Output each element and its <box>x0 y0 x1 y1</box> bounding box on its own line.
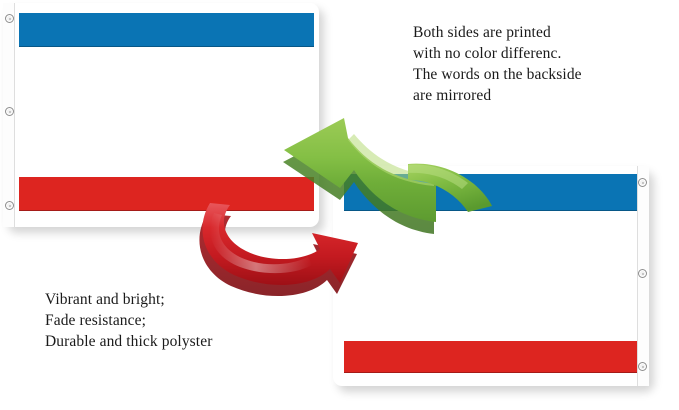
curved-arrow-left-green-tail-icon <box>408 160 508 216</box>
grommet-icon <box>638 362 647 371</box>
flag-back-hoist-band <box>637 166 649 386</box>
caption-top-right: Both sides are printed with no color dif… <box>413 22 663 106</box>
grommet-icon <box>5 201 14 210</box>
flag-front <box>3 3 319 227</box>
flag-front-blue-stripe <box>19 13 314 47</box>
grommet-icon <box>5 14 14 23</box>
flag-back-red-stripe <box>344 341 639 373</box>
curved-arrow-right-red-icon <box>198 203 358 301</box>
grommet-icon <box>638 178 647 187</box>
flag-front-hoist-band <box>3 3 15 227</box>
flag-front-field <box>3 3 319 227</box>
caption-bottom-left: Vibrant and bright; Fade resistance; Dur… <box>45 289 335 352</box>
product-infographic: Both sides are printed with no color dif… <box>0 0 679 410</box>
grommet-icon <box>638 269 647 278</box>
grommet-icon <box>5 107 14 116</box>
